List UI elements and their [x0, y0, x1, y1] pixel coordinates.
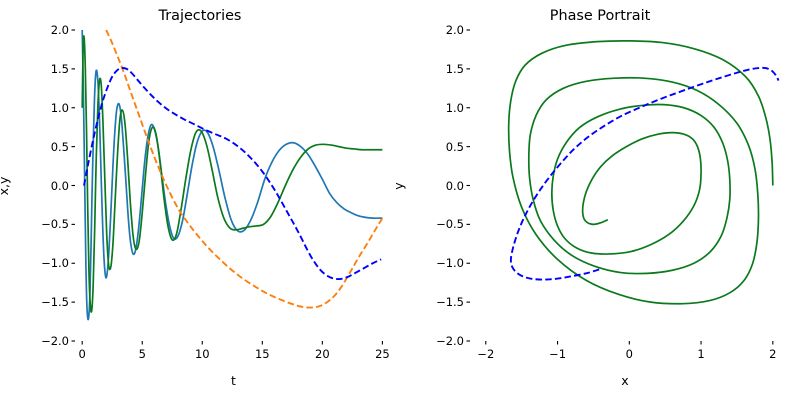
plot-area-phase-portrait: [467, 30, 779, 345]
data-series-line: [82, 30, 382, 320]
data-series-line: [509, 41, 773, 304]
y-tick-label: −0.5: [33, 217, 69, 231]
plot-canvas: [0, 0, 800, 400]
y-tick-label: −1.0: [428, 256, 464, 270]
y-tick-label: 1.5: [33, 62, 69, 76]
y-tick-label: 0.0: [33, 179, 69, 193]
x-tick-label: −1: [549, 347, 566, 361]
y-tick-label: 0.0: [428, 179, 464, 193]
x-tick-label: −2: [477, 347, 494, 361]
x-axis-label: t: [231, 373, 236, 388]
y-axis-label: x,y: [0, 176, 11, 195]
plot-area-trajectories: [72, 30, 383, 345]
y-tick-label: 1.0: [33, 101, 69, 115]
y-tick-label: 1.5: [428, 62, 464, 76]
y-tick-label: 0.5: [428, 140, 464, 154]
y-tick-label: −1.5: [428, 295, 464, 309]
x-axis-label: x: [621, 373, 628, 388]
y-tick-label: 1.0: [428, 101, 464, 115]
x-tick-label: 15: [255, 347, 270, 361]
y-tick-label: −2.0: [33, 334, 69, 348]
x-tick-label: 2: [769, 347, 776, 361]
x-tick-label: 0: [626, 347, 633, 361]
x-tick-label: 10: [195, 347, 210, 361]
y-tick-label: −1.5: [33, 295, 69, 309]
y-tick-label: −1.0: [33, 256, 69, 270]
data-series-line: [106, 30, 382, 308]
y-tick-label: 2.0: [428, 23, 464, 37]
x-tick-label: 20: [315, 347, 330, 361]
x-tick-label: 25: [375, 347, 390, 361]
x-tick-label: 5: [139, 347, 146, 361]
y-tick-label: −0.5: [428, 217, 464, 231]
y-tick-label: −2.0: [428, 334, 464, 348]
matplotlib-figure: Trajectories Phase Portrait 0510152025−2…: [0, 0, 800, 400]
y-tick-label: 2.0: [33, 23, 69, 37]
y-tick-label: 0.5: [33, 140, 69, 154]
x-tick-label: 0: [79, 347, 86, 361]
y-axis-label: y: [391, 182, 406, 189]
x-tick-label: 1: [697, 347, 704, 361]
